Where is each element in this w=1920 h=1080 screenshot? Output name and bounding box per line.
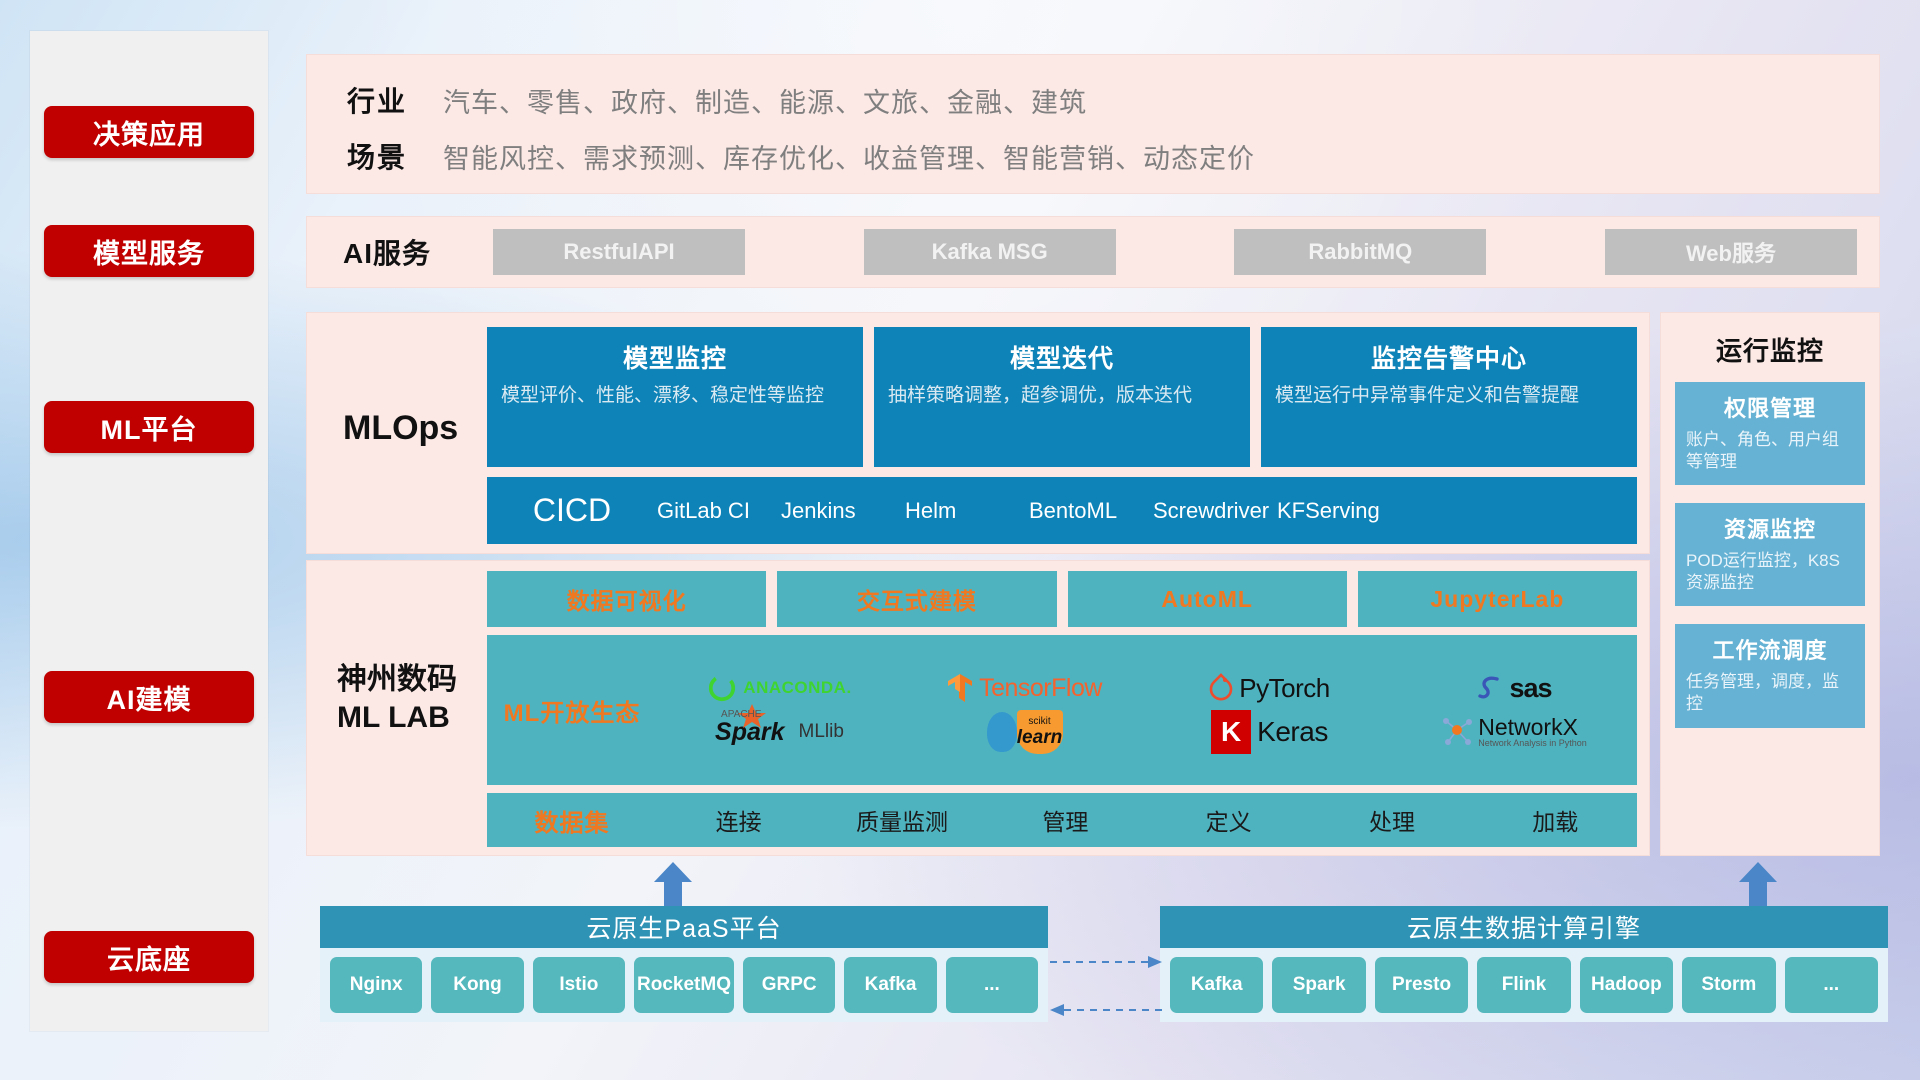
cloud-paas-block: 云原生PaaS平台 Nginx Kong Istio RocketMQ GRPC… (320, 906, 1048, 1022)
card-title: 模型监控 (623, 339, 727, 375)
cloud-chip-rocketmq[interactable]: RocketMQ (634, 957, 734, 1013)
cloud-chip-more2[interactable]: ... (1785, 957, 1878, 1013)
ai-service-label: AI服务 (343, 232, 493, 272)
dataset-item-process[interactable]: 处理 (1310, 803, 1473, 837)
architecture-diagram: 决策应用 模型服务 ML平台 AI建模 云底座 行业 汽车、零售、政府、制造、能… (0, 0, 1920, 1080)
sas-logo: sas (1392, 666, 1637, 710)
ai-service-chip-web-service[interactable]: Web服务 (1605, 229, 1857, 275)
rail-label: 决策应用 (93, 113, 205, 152)
cicd-item-jenkins[interactable]: Jenkins (781, 499, 905, 522)
networkx-logo: NetworkX Network Analysis in Python (1392, 710, 1637, 754)
cicd-item-helm[interactable]: Helm (905, 499, 1029, 522)
dataset-item-load[interactable]: 加载 (1474, 803, 1637, 837)
rail-label: 模型服务 (93, 232, 205, 271)
up-arrow-icon (650, 860, 696, 906)
anaconda-logo: ANACONDA. (657, 666, 902, 710)
ml-ecosystem-logo-grid: ANACONDA. TensorFlow PyTorch (657, 666, 1637, 754)
cloud-chip-hadoop[interactable]: Hadoop (1580, 957, 1673, 1013)
cloud-chip-istio[interactable]: Istio (533, 957, 625, 1013)
keras-wordmark: Keras (1257, 716, 1328, 748)
sas-mark-icon (1477, 674, 1503, 702)
spark-apache-text: APACHE (721, 709, 761, 720)
cloud-chip-nginx[interactable]: Nginx (330, 957, 422, 1013)
tensorflow-logo: TensorFlow (902, 666, 1147, 710)
dataset-item-manage[interactable]: 管理 (984, 803, 1147, 837)
cloud-chip-spark[interactable]: Spark (1272, 957, 1365, 1013)
sas-wordmark: sas (1509, 673, 1551, 704)
card-title: 模型迭代 (1010, 339, 1114, 375)
cloud-chip-kong[interactable]: Kong (431, 957, 523, 1013)
card-desc: 模型运行中异常事件定义和告警提醒 (1275, 384, 1623, 409)
dataset-item-define[interactable]: 定义 (1147, 803, 1310, 837)
mlops-label: MLOps (343, 409, 458, 448)
pytorch-wordmark: PyTorch (1239, 673, 1329, 704)
tensorflow-mark-icon (947, 673, 973, 703)
ml-tool-jupyterlab[interactable]: JupyterLab (1358, 571, 1637, 627)
card-title: 监控告警中心 (1371, 339, 1527, 375)
card-title: 工作流调度 (1686, 633, 1854, 665)
cicd-item-list: GitLab CI Jenkins Helm BentoML Screwdriv… (657, 499, 1637, 522)
ml-lab-label-line2: ML LAB (337, 699, 457, 737)
card-desc: 任务管理，调度，监控 (1686, 671, 1854, 715)
card-desc: 账户、角色、用户组等管理 (1686, 429, 1854, 473)
runtime-monitor-panel: 运行监控 权限管理 账户、角色、用户组等管理 资源监控 POD运行监控，K8S资… (1660, 312, 1880, 856)
ml-tool-list: 数据可视化 交互式建模 AutoML JupyterLab (487, 571, 1637, 627)
ml-lab-label-line1: 神州数码 (337, 661, 457, 699)
networkx-tagline: Network Analysis in Python (1478, 739, 1587, 748)
ml-tool-data-visualization[interactable]: 数据可视化 (487, 571, 766, 627)
anaconda-wordmark: ANACONDA. (743, 678, 851, 698)
dataset-item-quality-monitor[interactable]: 质量监测 (820, 803, 983, 837)
cloud-chip-grpc[interactable]: GRPC (743, 957, 835, 1013)
ml-ecosystem-label: ML开放生态 (487, 693, 657, 728)
tensorflow-wordmark: TensorFlow (979, 674, 1102, 703)
spark-mllib-logo: APACHE Spark MLlib (657, 710, 902, 754)
ml-tool-automl[interactable]: AutoML (1068, 571, 1347, 627)
cicd-item-kfserving[interactable]: KFServing (1277, 499, 1401, 522)
ai-service-chip-kafka-msg[interactable]: Kafka MSG (864, 229, 1116, 275)
networkx-wordmark: NetworkX (1478, 716, 1587, 739)
cloud-compute-chip-list: Kafka Spark Presto Flink Hadoop Storm ..… (1160, 948, 1888, 1022)
card-desc: 模型评价、性能、漂移、稳定性等监控 (501, 384, 849, 409)
pytorch-logo: PyTorch (1147, 666, 1392, 710)
ai-service-chip-restfulapi[interactable]: RestfulAPI (493, 229, 745, 275)
ml-tool-interactive-modeling[interactable]: 交互式建模 (777, 571, 1056, 627)
keras-mark-icon: K (1211, 710, 1251, 754)
cicd-bar: CICD GitLab CI Jenkins Helm BentoML Scre… (487, 477, 1637, 544)
ml-lab-label: 神州数码 ML LAB (337, 661, 457, 736)
cicd-item-bentoml[interactable]: BentoML (1029, 499, 1153, 522)
runtime-monitor-title: 运行监控 (1675, 331, 1865, 368)
up-arrow-icon (1735, 860, 1781, 906)
scikit-orange-blob-icon: scikit learn (1017, 710, 1063, 754)
mlops-card-alert-center[interactable]: 监控告警中心 模型运行中异常事件定义和告警提醒 (1261, 327, 1637, 467)
rail-label: AI建模 (107, 678, 192, 717)
industry-line: 行业 汽车、零售、政府、制造、能源、文旅、金融、建筑 (347, 75, 1087, 125)
dataset-item-list: 连接 质量监测 管理 定义 处理 加载 (657, 803, 1637, 837)
rail-item-ml-platform[interactable]: ML平台 (44, 401, 254, 453)
anaconda-mark-icon (707, 673, 737, 703)
cloud-chip-storm[interactable]: Storm (1682, 957, 1775, 1013)
left-rail: 决策应用 模型服务 ML平台 AI建模 云底座 (30, 31, 268, 1031)
scikit-top-text: scikit (1028, 716, 1050, 727)
mllib-wordmark: MLlib (799, 721, 844, 743)
cloud-compute-title: 云原生数据计算引擎 (1160, 906, 1888, 948)
rail-label: 云底座 (107, 938, 191, 977)
scikit-learn-logo: scikit learn (902, 710, 1147, 754)
ai-service-panel: AI服务 RestfulAPI Kafka MSG RabbitMQ Web服务 (306, 216, 1880, 288)
rail-item-decision-app[interactable]: 决策应用 (44, 106, 254, 158)
dataset-row: 数据集 连接 质量监测 管理 定义 处理 加载 (487, 793, 1637, 847)
ml-lab-panel: 神州数码 ML LAB 数据可视化 交互式建模 AutoML JupyterLa… (306, 560, 1650, 856)
cicd-label: CICD (487, 492, 657, 529)
scenario-values: 智能风控、需求预测、库存优化、收益管理、智能营销、动态定价 (443, 137, 1255, 176)
cloud-link-connectors (1048, 950, 1164, 1022)
card-title: 资源监控 (1686, 512, 1854, 544)
cloud-chip-flink[interactable]: Flink (1477, 957, 1570, 1013)
monitor-card-resource-monitoring[interactable]: 资源监控 POD运行监控，K8S资源监控 (1675, 503, 1865, 606)
cloud-compute-block: 云原生数据计算引擎 Kafka Spark Presto Flink Hadoo… (1160, 906, 1888, 1022)
industry-scenario-panel: 行业 汽车、零售、政府、制造、能源、文旅、金融、建筑 场景 智能风控、需求预测、… (306, 54, 1880, 194)
networkx-graph-icon (1442, 716, 1472, 748)
mlops-panel: MLOps 模型监控 模型评价、性能、漂移、稳定性等监控 模型迭代 抽样策略调整… (306, 312, 1650, 554)
card-title: 权限管理 (1686, 391, 1854, 423)
rail-item-ai-modeling[interactable]: AI建模 (44, 671, 254, 723)
cloud-chip-kafka[interactable]: Kafka (844, 957, 936, 1013)
industry-label: 行业 (347, 80, 443, 120)
scenario-line: 场景 智能风控、需求预测、库存优化、收益管理、智能营销、动态定价 (347, 131, 1255, 181)
rail-item-cloud-base[interactable]: 云底座 (44, 931, 254, 983)
cloud-chip-presto[interactable]: Presto (1375, 957, 1468, 1013)
pytorch-mark-icon (1209, 673, 1233, 703)
scikit-bottom-text: learn (1017, 727, 1062, 749)
ai-service-chip-rabbitmq[interactable]: RabbitMQ (1234, 229, 1486, 275)
ml-ecosystem-row: ML开放生态 ANACONDA. TensorFlow (487, 635, 1637, 785)
industry-values: 汽车、零售、政府、制造、能源、文旅、金融、建筑 (443, 81, 1087, 120)
mlops-card-list: 模型监控 模型评价、性能、漂移、稳定性等监控 模型迭代 抽样策略调整，超参调优，… (487, 327, 1637, 467)
ai-service-chip-list: RestfulAPI Kafka MSG RabbitMQ Web服务 (493, 229, 1879, 275)
card-desc: POD运行监控，K8S资源监控 (1686, 550, 1854, 594)
dataset-label: 数据集 (487, 803, 657, 838)
monitor-card-permission-management[interactable]: 权限管理 账户、角色、用户组等管理 (1675, 382, 1865, 485)
monitor-card-workflow-scheduling[interactable]: 工作流调度 任务管理，调度，监控 (1675, 624, 1865, 727)
cicd-item-gitlab-ci[interactable]: GitLab CI (657, 499, 781, 522)
mlops-card-model-iteration[interactable]: 模型迭代 抽样策略调整，超参调优，版本迭代 (874, 327, 1250, 467)
card-desc: 抽样策略调整，超参调优，版本迭代 (888, 384, 1236, 409)
cloud-paas-title: 云原生PaaS平台 (320, 906, 1048, 948)
rail-label: ML平台 (101, 408, 198, 447)
keras-k-letter: K (1221, 716, 1241, 748)
cloud-chip-kafka2[interactable]: Kafka (1170, 957, 1263, 1013)
scikit-blue-blob-icon (987, 712, 1017, 752)
dataset-item-connect[interactable]: 连接 (657, 803, 820, 837)
mlops-card-model-monitoring[interactable]: 模型监控 模型评价、性能、漂移、稳定性等监控 (487, 327, 863, 467)
keras-logo: K Keras (1147, 710, 1392, 754)
scenario-label: 场景 (347, 136, 443, 176)
cloud-paas-chip-list: Nginx Kong Istio RocketMQ GRPC Kafka ... (320, 948, 1048, 1022)
cicd-item-screwdriver[interactable]: Screwdriver (1153, 499, 1277, 522)
cloud-chip-more[interactable]: ... (946, 957, 1038, 1013)
rail-item-model-service[interactable]: 模型服务 (44, 225, 254, 277)
